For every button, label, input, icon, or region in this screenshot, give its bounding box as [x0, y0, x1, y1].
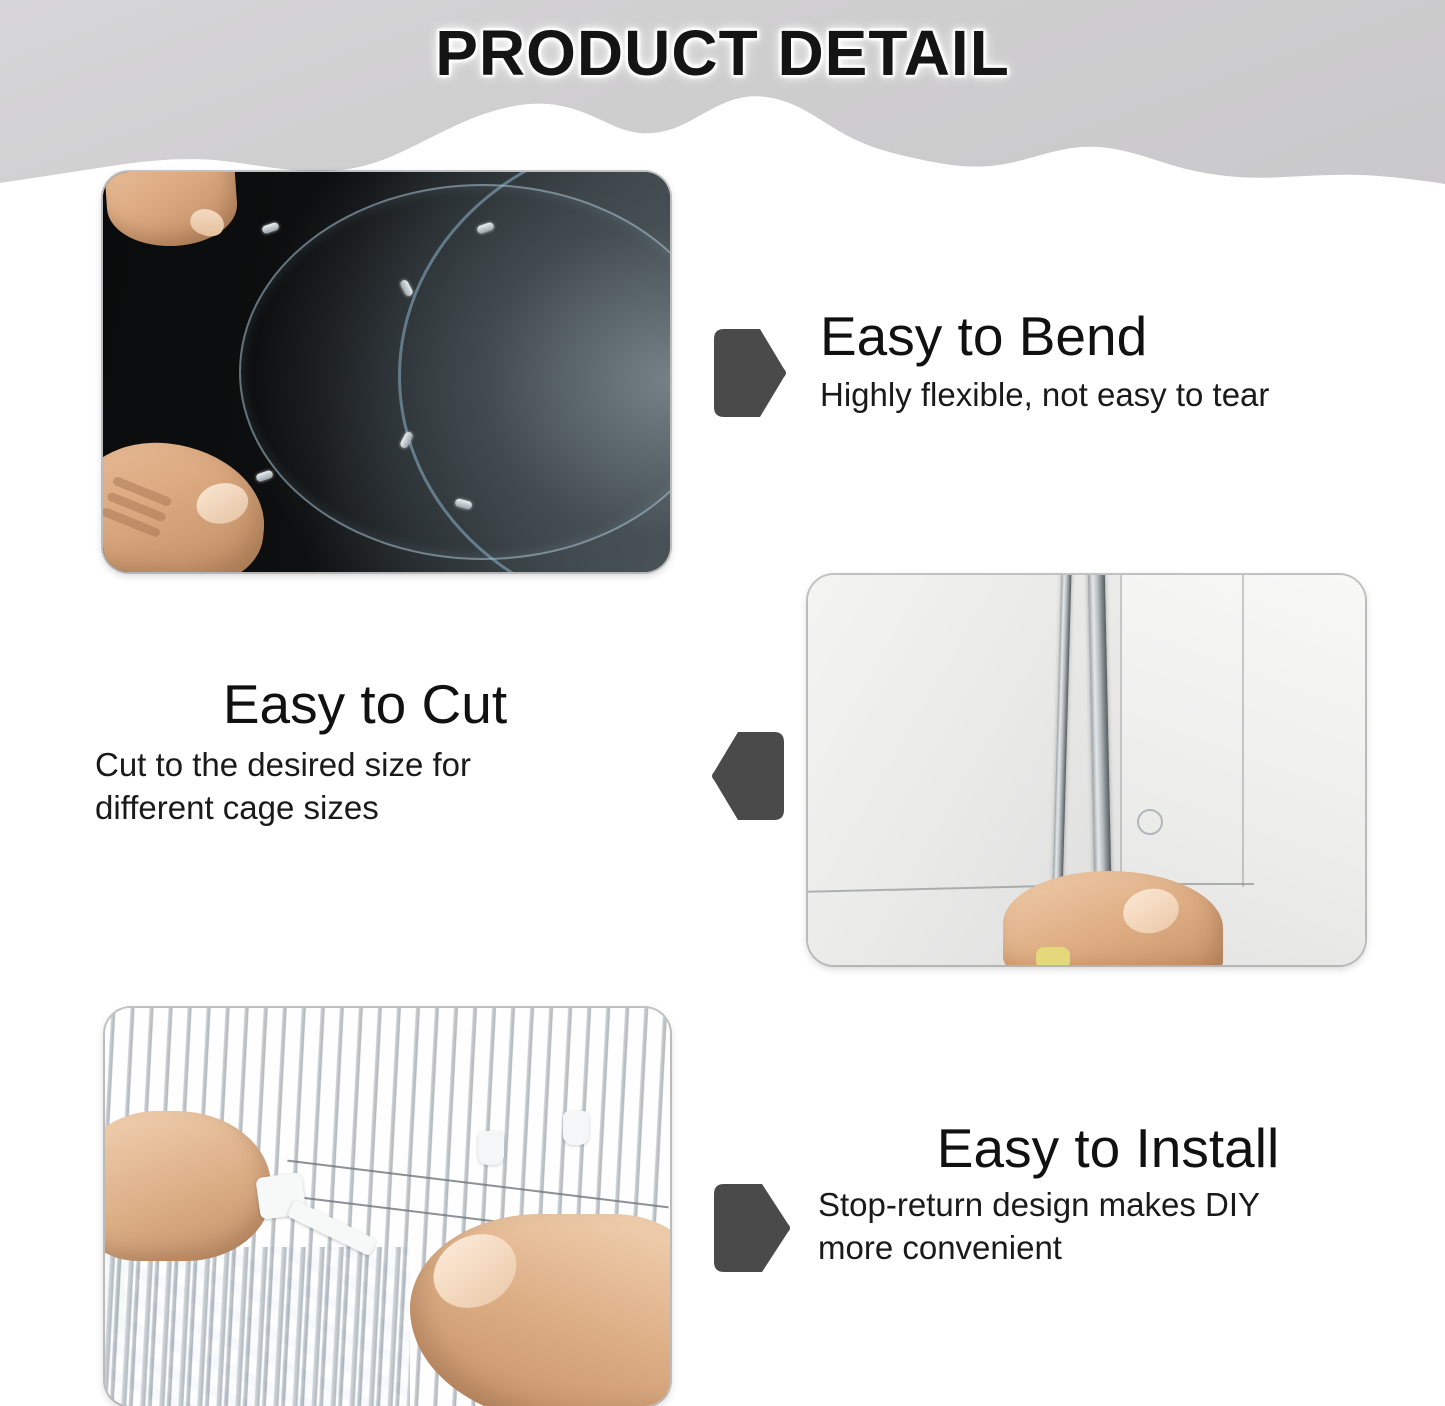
- feature-subtext-cut-line-2: different cage sizes: [95, 787, 695, 830]
- sheet-vertical-edge: [1242, 575, 1244, 887]
- feature-image-install: [105, 1008, 670, 1406]
- arrow-right-pentagon-icon: [706, 1180, 792, 1276]
- sheet-vertical-edge: [1120, 575, 1122, 895]
- feature-block-install: Easy to Install Stop-return design makes…: [818, 1120, 1428, 1270]
- scissor-handle-grip: [1036, 947, 1070, 965]
- page-title: PRODUCT DETAIL: [0, 16, 1445, 90]
- sheet-mount-hole: [1137, 809, 1163, 835]
- feature-subtext-install-line-2: more convenient: [818, 1227, 1428, 1270]
- arrow-left-pentagon-icon: [710, 728, 792, 824]
- arrow-right-pentagon-icon: [706, 325, 788, 421]
- hand-right: [410, 1214, 670, 1406]
- feature-block-bend: Easy to Bend Highly flexible, not easy t…: [820, 308, 1420, 417]
- feature-subtext-cut: Cut to the desired size for different ca…: [95, 744, 695, 830]
- feature-heading-cut: Easy to Cut: [95, 676, 695, 734]
- feature-subtext-bend: Highly flexible, not easy to tear: [820, 374, 1420, 417]
- fingernail: [193, 478, 252, 528]
- feature-subtext-install-line-1: Stop-return design makes DIY: [818, 1184, 1428, 1227]
- feature-subtext-install: Stop-return design makes DIY more conven…: [818, 1184, 1428, 1270]
- cable-tie-clip: [478, 1131, 504, 1165]
- feature-heading-bend: Easy to Bend: [820, 308, 1420, 366]
- feature-image-bend: [103, 172, 670, 572]
- feature-image-cut: [808, 575, 1365, 965]
- cable-tie-clip: [563, 1111, 589, 1145]
- feature-subtext-cut-line-1: Cut to the desired size for: [95, 744, 695, 787]
- fingernail: [1119, 884, 1183, 939]
- feature-heading-install: Easy to Install: [818, 1120, 1428, 1178]
- feature-block-cut: Easy to Cut Cut to the desired size for …: [95, 676, 695, 830]
- cage-wire-bars-overlay: [105, 1247, 410, 1406]
